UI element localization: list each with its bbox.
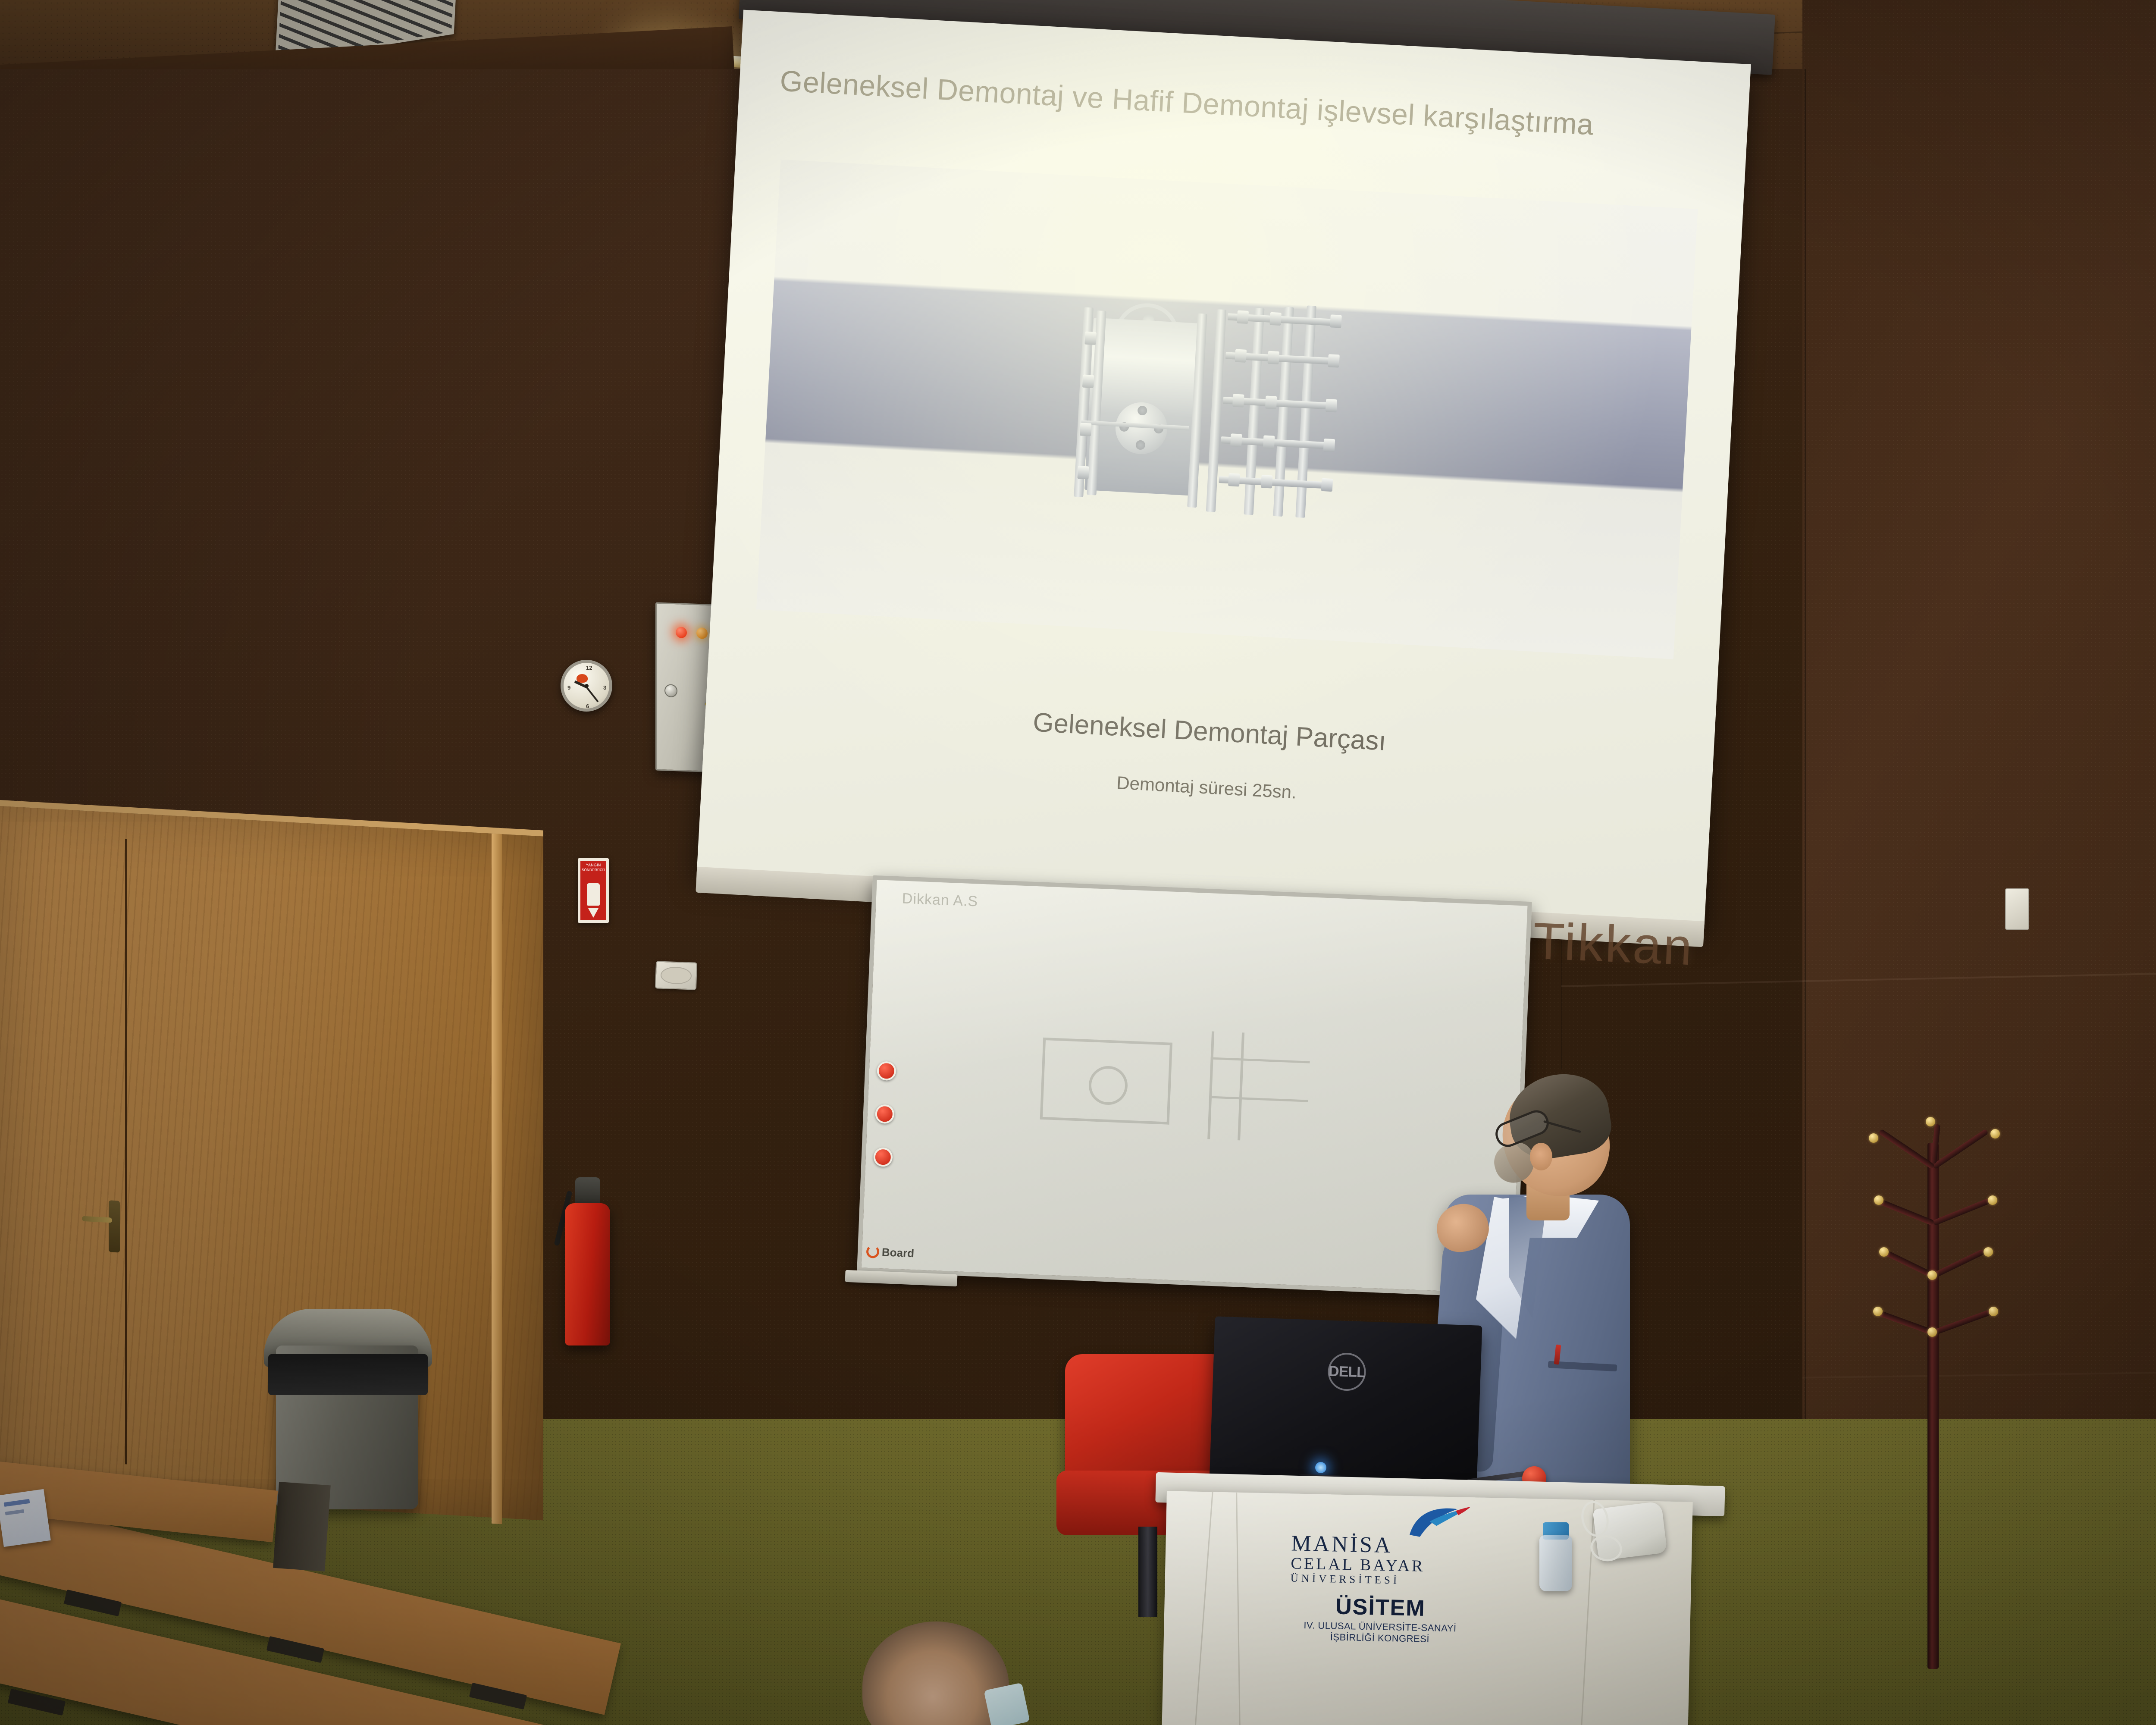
flyer-subline-bar (5, 1509, 25, 1515)
cloth-fold (1236, 1493, 1241, 1725)
cad-nut-left (1077, 466, 1089, 479)
panel-led-red (676, 627, 687, 638)
wood-grain-texture (0, 806, 543, 1520)
down-arrow-icon (588, 908, 599, 918)
cad-nut (1235, 349, 1247, 363)
university-name: MANİSA CELAL BAYAR ÜNİVERSİTESİ (1290, 1532, 1472, 1589)
cad-nut (1269, 312, 1282, 326)
coat-rack-hook-tip (1990, 1129, 2000, 1138)
wall-switch-plate[interactable] (2005, 888, 2029, 930)
cad-nut (1265, 396, 1277, 409)
drawing-line (1040, 1038, 1046, 1120)
coat-rack-hook-tip (1927, 1270, 1937, 1280)
cad-nut-left (1084, 332, 1097, 345)
drawing-line (1207, 1032, 1214, 1139)
cad-nut (1326, 399, 1338, 412)
cad-flanged-valve-assembly (1031, 279, 1423, 540)
chair-gas-post (1138, 1527, 1157, 1617)
slide-title: Geleneksel Demontaj ve Hafif Demontaj iş… (779, 64, 1708, 147)
desk-end-panel (273, 1482, 331, 1571)
usitem-label: ÜSİTEM (1290, 1593, 1471, 1622)
wall-power-socket[interactable] (655, 961, 697, 990)
fire-extinguisher (565, 1203, 610, 1345)
coat-rack-hook-tip (1989, 1307, 1998, 1316)
chair-backrest (1065, 1354, 1229, 1488)
wall-panel-seam (1805, 69, 1806, 1514)
cad-hub-hole (1135, 440, 1145, 450)
congress-label: IV. ULUSAL ÜNİVERSİTE-SANAYİ İŞBİRLİĞİ K… (1289, 1619, 1471, 1646)
cad-nut (1328, 354, 1340, 367)
drawing-line (1043, 1038, 1172, 1045)
panel-lock-icon[interactable] (664, 684, 677, 697)
clock-center-pin (585, 684, 589, 688)
socket-inner-ring (660, 966, 692, 985)
cad-nut (1230, 433, 1242, 447)
wall-projection-overflow-text: Tikkan (1532, 911, 1695, 977)
drawing-line (1166, 1043, 1172, 1125)
coat-rack-hook-tip (1874, 1195, 1883, 1205)
cad-nut (1321, 478, 1333, 492)
cloth-fold (1194, 1492, 1213, 1725)
cad-nut-left (1080, 423, 1092, 436)
audience-face-mask (984, 1683, 1030, 1725)
cad-nut (1330, 315, 1342, 328)
whiteboard-brand-logo: Board (866, 1239, 923, 1267)
cad-nut (1232, 394, 1244, 408)
flyer-headline-bar (4, 1499, 30, 1507)
university-swoosh-icon (1405, 1504, 1471, 1540)
cad-nut (1237, 310, 1249, 324)
brand-ring-icon (866, 1245, 879, 1258)
projection-screen: Geleneksel Demontaj ve Hafif Demontaj iş… (696, 10, 1751, 930)
cad-nut (1323, 439, 1335, 452)
drawing-line (1209, 1096, 1308, 1102)
wall-clock: 12 3 6 9 (561, 660, 612, 712)
projection-screen-assembly: Geleneksel Demontaj ve Hafif Demontaj iş… (691, 0, 1814, 951)
drawing-line (1040, 1117, 1169, 1125)
coat-rack-hook-tip (1927, 1327, 1937, 1337)
water-bottle[interactable] (1539, 1535, 1572, 1591)
coat-rack-hook-tip (1926, 1117, 1935, 1126)
cad-nut (1267, 351, 1279, 364)
dell-logo: DELL (1327, 1352, 1366, 1392)
extinguisher-icon (587, 883, 600, 906)
presenter-ear (1530, 1143, 1552, 1170)
wooden-door-wall (0, 800, 543, 1520)
wall-fabric-texture (1802, 0, 2156, 1535)
presentation-room-photo: 12 3 6 9 ⚡ YANGIN SÖNDÜRÜCÜ Geleneksel D… (0, 0, 2156, 1725)
cad-nut (1228, 473, 1240, 486)
slide: Geleneksel Demontaj ve Hafif Demontaj iş… (696, 10, 1751, 930)
university-logo-block: MANİSA CELAL BAYAR ÜNİVERSİTESİ ÜSİTEM I… (1277, 1501, 1479, 1505)
cad-hub-hole (1138, 406, 1147, 416)
trash-bin-liner (268, 1354, 428, 1395)
whiteboard-cad-drawing (1003, 985, 1364, 1184)
door-lock-plate[interactable] (109, 1200, 120, 1252)
printed-flyer[interactable] (0, 1489, 51, 1547)
drawing-line (1238, 1032, 1244, 1140)
coat-rack-hook-tip (1879, 1247, 1889, 1257)
coat-rack-hook-tip (1988, 1195, 1997, 1205)
clock-minute-hand (586, 687, 599, 703)
coat-rack-hook-tip (1873, 1307, 1883, 1316)
drawing-line (1211, 1057, 1310, 1063)
drawing-circle (1088, 1065, 1128, 1106)
cad-nut (1263, 436, 1275, 449)
coat-rack-hook-tip (1869, 1133, 1878, 1143)
coat-rack-hook-tip (1984, 1247, 1993, 1257)
whiteboard-projected-text: Dikkan A.S (902, 890, 978, 910)
door-frame-edge (492, 834, 502, 1524)
monitor-power-led (1315, 1462, 1326, 1473)
fire-sign-label-2: SÖNDÜRÜCÜ (580, 868, 606, 872)
cad-nut (1261, 475, 1273, 488)
fire-extinguisher-sign: YANGIN SÖNDÜRÜCÜ (578, 858, 609, 923)
fire-sign-label-1: YANGIN (580, 863, 606, 867)
whiteboard-brand-label: Board (881, 1245, 914, 1260)
door-gap (125, 839, 127, 1464)
cad-nut-left (1082, 375, 1094, 388)
right-wall (1802, 0, 2156, 1535)
slide-artwork-panel (756, 160, 1698, 659)
